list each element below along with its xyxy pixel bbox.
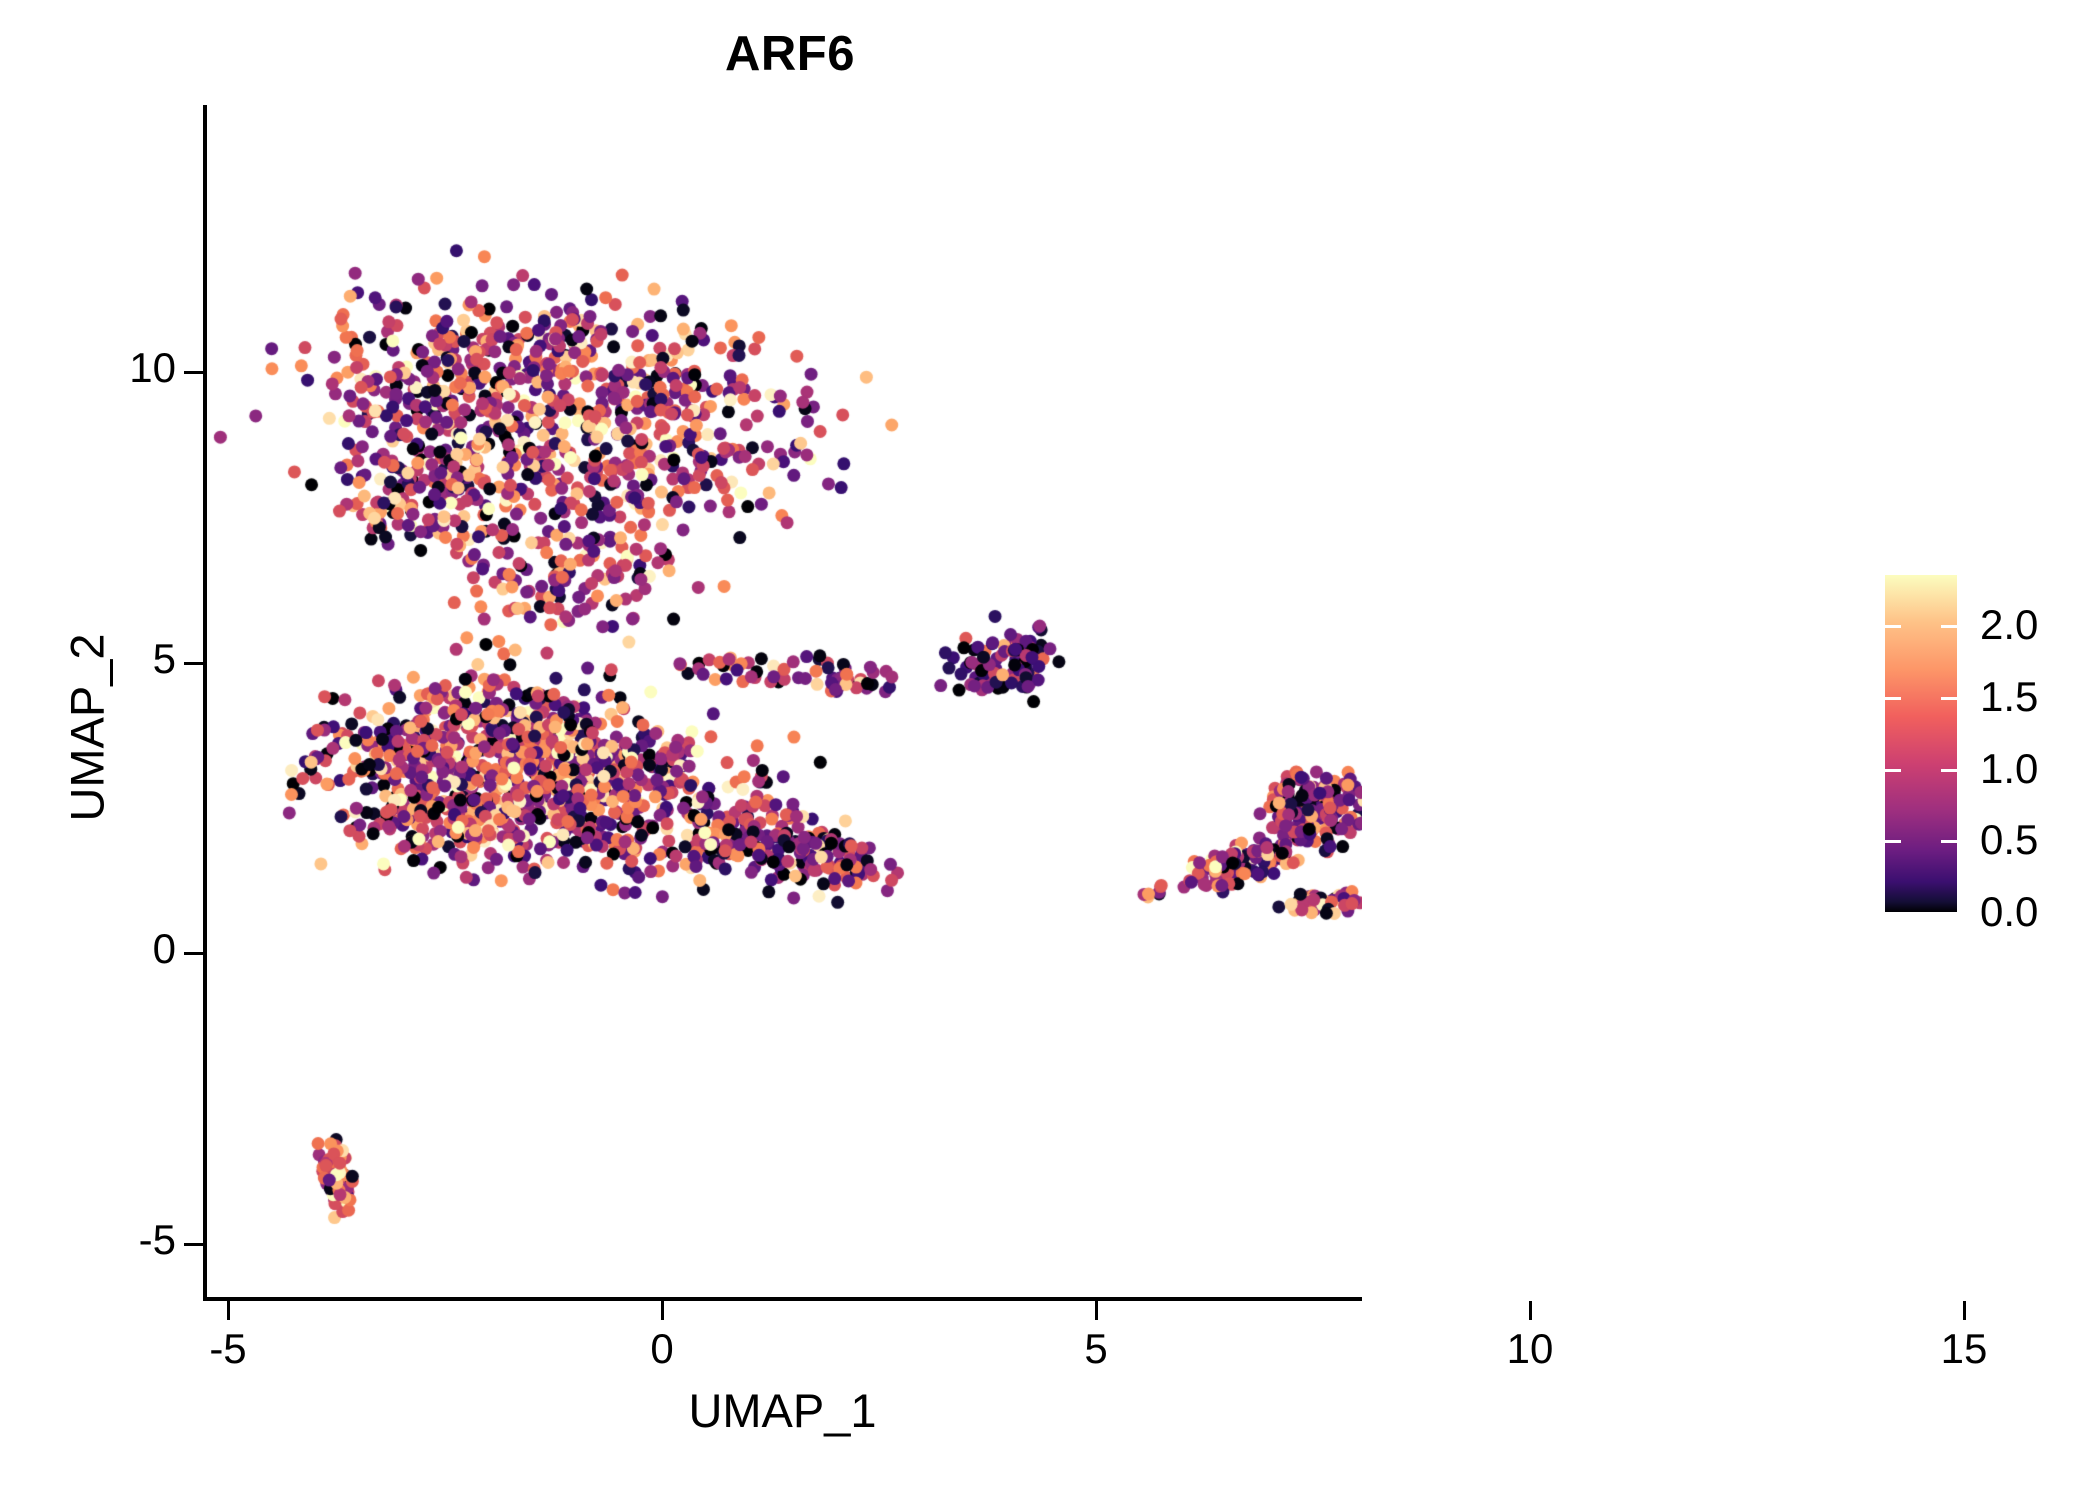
colorbar-tick-3 — [1885, 840, 1957, 843]
figure-root: ARF6 -5051015 1050-5 UMAP_1 UMAP_2 2.01.… — [0, 0, 2100, 1500]
x-tick-label-4: 15 — [1904, 1325, 2024, 1373]
x-tick-label-1: 0 — [602, 1325, 722, 1373]
colorbar-label-4: 0.0 — [1980, 888, 2038, 936]
x-tick-1 — [661, 1301, 664, 1320]
x-tick-2 — [1095, 1301, 1098, 1320]
y-tick-1 — [184, 662, 203, 665]
y-tick-0 — [184, 371, 203, 374]
x-tick-4 — [1963, 1301, 1966, 1320]
page-title: ARF6 — [0, 26, 1580, 82]
colorbar-tick-0 — [1885, 625, 1957, 628]
scatter-points-canvas — [205, 105, 1362, 1298]
x-tick-label-3: 10 — [1470, 1325, 1590, 1373]
colorbar-label-0: 2.0 — [1980, 601, 2038, 649]
colorbar-label-3: 0.5 — [1980, 816, 2038, 864]
x-tick-3 — [1529, 1301, 1532, 1320]
y-tick-2 — [184, 952, 203, 955]
colorbar-tick-2 — [1885, 769, 1957, 772]
x-axis-label: UMAP_1 — [203, 1383, 1362, 1438]
colorbar-label-2: 1.0 — [1980, 745, 2038, 793]
y-axis-line — [203, 105, 207, 1301]
x-tick-label-2: 5 — [1036, 1325, 1156, 1373]
x-tick-0 — [227, 1301, 230, 1320]
y-tick-3 — [184, 1243, 203, 1246]
colorbar-tick-4 — [1885, 912, 1957, 915]
colorbar-label-1: 1.5 — [1980, 673, 2038, 721]
x-tick-label-0: -5 — [168, 1325, 288, 1373]
colorbar-legend: 2.01.51.00.50.0 — [1885, 575, 2100, 925]
y-tick-label-3: -5 — [16, 1216, 176, 1264]
y-axis-label: UMAP_2 — [60, 278, 115, 1178]
colorbar-tick-1 — [1885, 697, 1957, 700]
plot-panel — [205, 105, 1362, 1298]
x-axis-line — [203, 1297, 1362, 1301]
